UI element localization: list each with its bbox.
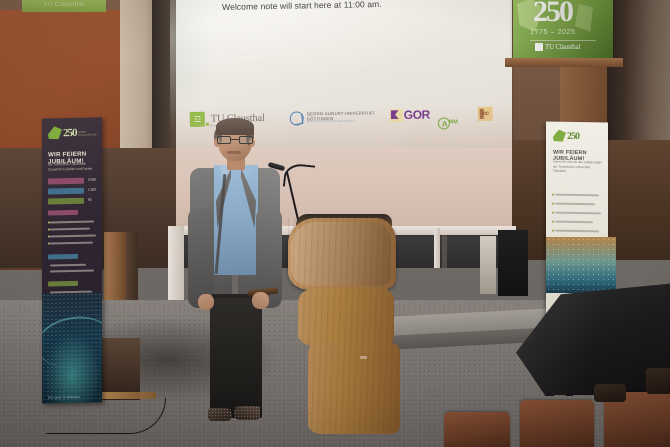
rollup-dark-subline: Die Technische Universität Clausthal in … (48, 161, 98, 171)
rollup-dark-logo-number: 250 (63, 128, 77, 139)
backdrop-poster (546, 237, 616, 293)
rollup-dark-stat-value: 3.500 (88, 177, 96, 181)
rollup-light-subline: Feiern Sie mit uns das Jubiläumsjahr der… (553, 160, 603, 174)
rollup-dark-logo-mini: JAHRETU CLAUSTHAL (78, 132, 97, 138)
railing-post (434, 228, 440, 268)
banner-250-shelf (505, 58, 623, 67)
rollup-light-logo: 250 (553, 130, 579, 142)
lectern-mid-body (298, 288, 394, 346)
shoe-pattern (208, 408, 232, 421)
banner-250-lighting (513, 0, 613, 60)
lectern-wood-grain (288, 218, 396, 290)
lectern-wood-grain (298, 288, 394, 346)
backdrop-poster-sparkle (546, 237, 616, 293)
rollup-banner-dark: 250 JAHRETU CLAUSTHAL WIR FEIERN JUBILÄU… (42, 117, 102, 403)
green-ceiling-sign-label: TU Clausthal (22, 0, 106, 12)
rollup-dark-stat-value: 80 (88, 198, 92, 202)
rollup-dark-text-line (50, 264, 86, 267)
lecture-hall-photo: TU Clausthal Welcome note will start her… (0, 0, 670, 447)
auditorium-chair-shadow (646, 368, 670, 394)
rollup-dark-section-tag (48, 210, 78, 216)
rollup-dark-bullet-line (50, 242, 93, 245)
rollup-dark-stat-value: 1.300 (88, 187, 96, 191)
balcony-slat (442, 234, 447, 268)
rollup-dark-stat-bar (48, 188, 84, 195)
rollup-light-logo-number: 250 (567, 132, 579, 142)
rollup-dark-artwork: 250 Jahre TU Clausthal (42, 292, 102, 403)
lectern-wood-grain (308, 342, 400, 434)
rollup-light-bullet-dot (552, 230, 554, 232)
speaker-hand-right (252, 292, 269, 309)
equipment-dark-panel (498, 230, 528, 296)
rollup-dark-stat-bar (48, 178, 84, 185)
speaker-shoe-right (234, 406, 260, 420)
rollup-dark-section-tag (48, 281, 78, 287)
speaker-mouth (227, 151, 241, 154)
speaker-arm-left (188, 208, 214, 308)
rollup-dark-section-tag (48, 254, 78, 260)
rollup-light-bullet-dot (552, 221, 554, 223)
speaker-glasses-icon (217, 136, 253, 145)
lectern-badge (360, 356, 367, 359)
rollup-dark-artwork-particles (42, 292, 102, 403)
speaker-trousers (210, 298, 262, 418)
rollup-dark-bullet-line (50, 234, 96, 237)
rollup-dark-logo: 250 JAHRETU CLAUSTHAL (48, 125, 97, 139)
glasses-lens-right (239, 136, 253, 144)
anniversary-banner-250: 250 1775 – 2025 TU Clausthal (513, 0, 613, 60)
rollup-light-bullet-dot (552, 203, 554, 205)
rollup-dark-bullet-line (50, 221, 94, 224)
equipment-white-panel (480, 236, 496, 294)
lectern (288, 218, 400, 434)
rollup-light-bullet-line (555, 221, 593, 223)
auditorium-chair-shadow (594, 384, 626, 402)
shoe-pattern (234, 406, 260, 420)
left-plinth (96, 338, 140, 400)
rollup-dark-text-line (50, 270, 94, 273)
rollup-light-bullet-dot (552, 212, 554, 214)
rollup-light-bullet-line (555, 203, 595, 205)
glasses-bridge (231, 139, 239, 140)
lectern-base (308, 342, 400, 434)
auditorium-chair (520, 400, 594, 447)
rollup-light-bullet-line (555, 230, 599, 232)
speaker-hand-left (198, 294, 214, 310)
microphone-cable (46, 398, 166, 434)
rollup-light-bullet-dot (552, 194, 554, 196)
rollup-dark-bullet-line (50, 228, 90, 231)
rollup-dark-leaf-icon (48, 126, 62, 139)
rollup-light-bullet-line (555, 212, 601, 214)
rollup-light-leaf-icon (553, 130, 566, 142)
green-ceiling-sign: TU Clausthal (22, 0, 106, 12)
rollup-dark-stat-bar (48, 198, 84, 205)
lectern-upper-body (288, 218, 396, 290)
speaker-shoe-left (208, 408, 232, 421)
auditorium-chair (444, 412, 510, 447)
rollup-light-bullet-line (555, 194, 599, 196)
glasses-lens-left (217, 136, 231, 144)
